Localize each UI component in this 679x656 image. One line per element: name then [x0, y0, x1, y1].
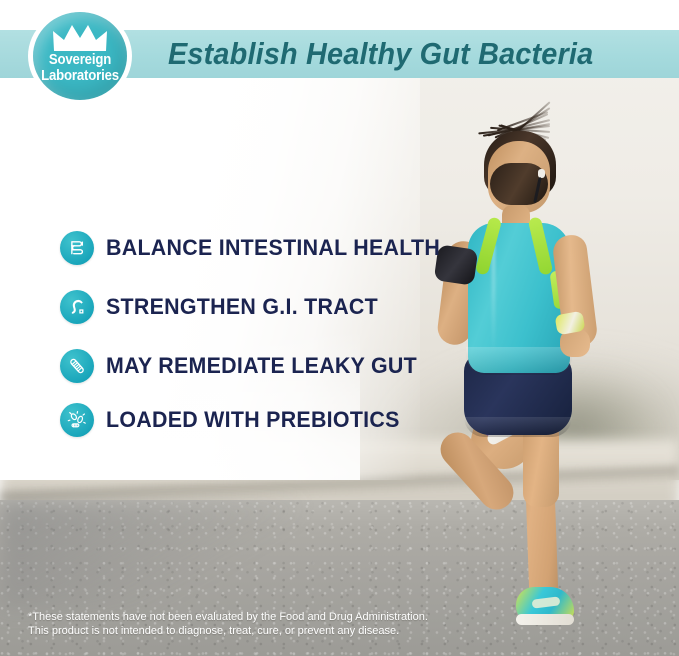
logo-line-2: Laboratories — [34, 68, 126, 84]
product-infographic: Establish Healthy Gut Bacteria Sovereign… — [0, 0, 679, 656]
benefit-item-strengthen-gi-tract: STRENGTHEN G.I. TRACT — [60, 291, 400, 323]
logo-wordmark: Sovereign Laboratories — [34, 52, 126, 83]
stomach-icon — [60, 290, 94, 324]
road-shadow — [0, 500, 300, 610]
benefit-item-may-remediate-leaky-gut: MAY REMEDIATE LEAKY GUT — [60, 350, 400, 382]
fda-disclaimer: *These statements have not been evaluate… — [28, 611, 458, 638]
phone-armband — [434, 244, 479, 285]
disclaimer-line-2: This product is not intended to diagnose… — [28, 625, 458, 639]
disclaimer-line-1: *These statements have not been evaluate… — [28, 611, 458, 625]
tank-top-fold — [492, 245, 495, 355]
benefit-label: LOADED WITH PREBIOTICS — [106, 407, 400, 433]
benefit-label: STRENGTHEN G.I. TRACT — [106, 294, 378, 320]
crown-icon — [52, 24, 108, 52]
benefit-label: BALANCE INTESTINAL HEALTH — [106, 235, 440, 261]
benefit-item-balance-intestinal-health: BALANCE INTESTINAL HEALTH — [60, 232, 400, 264]
page-title: Establish Healthy Gut Bacteria — [168, 31, 633, 77]
benefit-label: MAY REMEDIATE LEAKY GUT — [106, 353, 417, 379]
brand-logo[interactable]: Sovereign Laboratories — [28, 8, 132, 104]
bacteria-icon — [60, 403, 94, 437]
benefit-item-loaded-with-prebiotics: LOADED WITH PREBIOTICS — [60, 404, 400, 436]
logo-line-1: Sovereign — [34, 52, 126, 68]
runner-figure — [430, 95, 650, 640]
shoe-sole — [516, 614, 574, 625]
shorts-hem — [464, 417, 572, 437]
intestine-icon — [60, 231, 94, 265]
planted-running-shoe — [516, 587, 574, 621]
tank-top-hem — [466, 347, 572, 375]
zipper-seal-icon — [60, 349, 94, 383]
benefits-list: BALANCE INTESTINAL HEALTH STRENGTHEN G.I… — [60, 232, 400, 463]
